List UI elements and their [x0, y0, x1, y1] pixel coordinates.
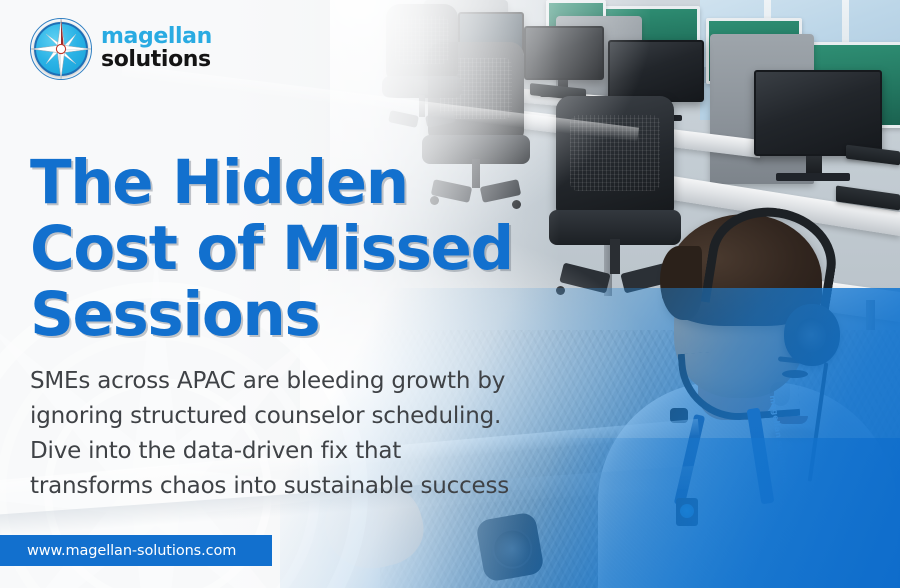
brand-name-top: magellan — [101, 26, 212, 48]
page-title: The Hidden Cost of Missed Sessions — [30, 150, 530, 348]
website-url[interactable]: www.magellan-solutions.com — [0, 543, 236, 559]
headset-microphone-icon — [670, 408, 688, 423]
compass-star — [30, 18, 92, 80]
computer-monitor — [754, 70, 882, 156]
headline-line-1: The Hidden — [30, 150, 530, 216]
brand-name-bottom: solutions — [101, 49, 212, 71]
website-url-bar[interactable]: www.magellan-solutions.com — [0, 535, 272, 566]
monitor-foot — [776, 173, 850, 181]
compass-rose-icon — [30, 18, 92, 80]
id-badge — [676, 498, 698, 526]
subtitle-text: SMEs across APAC are bleeding growth by … — [30, 364, 510, 504]
brand-wordmark: magellan solutions — [101, 26, 212, 73]
monitor-stand — [806, 156, 822, 174]
banner-content: The Hidden Cost of Missed Sessions SMEs … — [30, 150, 530, 504]
headline-line-2: Cost of Missed — [30, 216, 530, 282]
brand-logo[interactable]: magellan solutions — [30, 18, 212, 80]
promotional-banner: magellan solutions — [0, 0, 900, 588]
headline-line-3: Sessions — [30, 282, 530, 348]
